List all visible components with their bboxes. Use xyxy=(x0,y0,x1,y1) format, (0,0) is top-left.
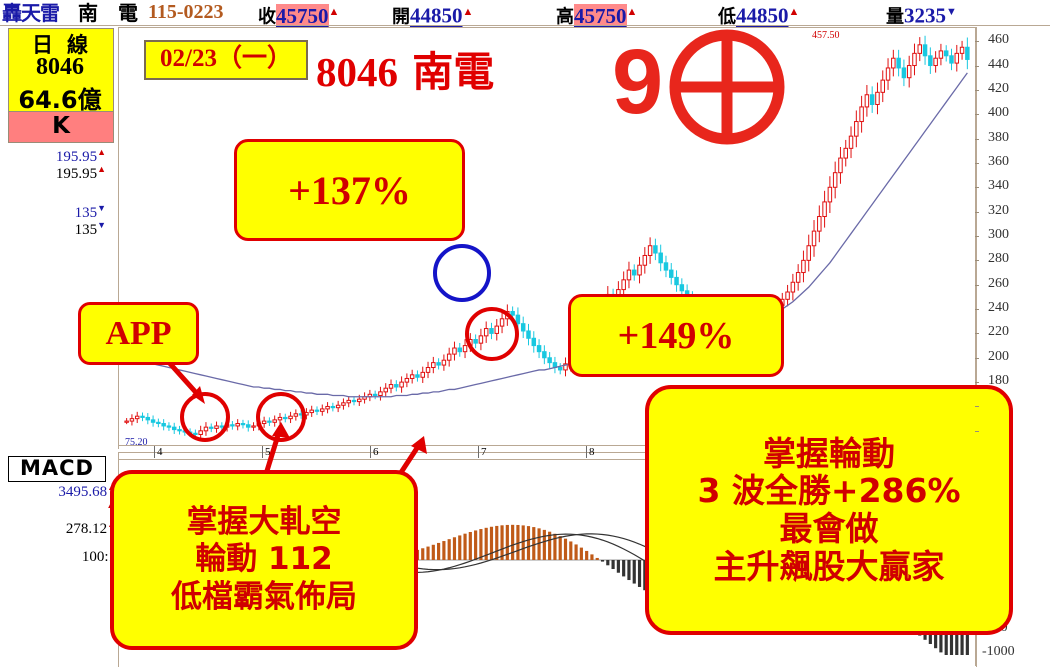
macd-tick--1000: -1000 xyxy=(982,644,1015,660)
stock-name-label: 南 電 xyxy=(78,1,138,25)
k-value-black: 195.95▲ xyxy=(0,164,106,183)
price-tick-mark-340 xyxy=(975,187,979,188)
price-tick-260: 260 xyxy=(988,276,1009,292)
high-point-annotation: 457.50 xyxy=(812,30,840,41)
chart-title-name: 南電 xyxy=(412,48,494,96)
price-tick-360: 360 xyxy=(988,154,1009,170)
price-tick-280: 280 xyxy=(988,251,1009,267)
open-up-arrow-icon: ▲ xyxy=(463,6,474,18)
price-tick-340: 340 xyxy=(988,178,1009,194)
price-tick-200: 200 xyxy=(988,349,1009,365)
toolbar-divider xyxy=(0,25,1050,26)
badge-gain-137: +137% xyxy=(234,139,465,241)
price-tick-380: 380 xyxy=(988,130,1009,146)
price-tick-mark-220 xyxy=(975,333,979,334)
price-tick-mark-460 xyxy=(975,41,979,42)
price-tick-440: 440 xyxy=(988,57,1009,73)
macd-value-blue: 3495.68▲ xyxy=(0,482,116,501)
callout-right: 掌握輪動 3 波全勝+286% 最會做 主升飆股大贏家 xyxy=(645,385,1013,635)
price-tick-mark-360 xyxy=(975,163,979,164)
callout-right-line-4: 主升飆股大贏家 xyxy=(714,548,945,586)
chart-title-code: 8046 xyxy=(316,49,398,95)
quote-toolbar: 轟天雷 南 電 115-0223 收45750▲ 開44850▲ 高45750▲… xyxy=(0,0,1050,26)
volume-down-arrow-icon: ▼ xyxy=(946,6,957,18)
price-tick-mark-440 xyxy=(975,66,979,67)
chart-title: 8046 南電 xyxy=(316,38,494,98)
x-tick-8: 8 xyxy=(586,446,595,458)
macd-value-black: 278.12▲ xyxy=(0,519,116,538)
price-tick-mark-380 xyxy=(975,139,979,140)
app-logo: 轟天雷 xyxy=(2,1,59,25)
x-tick-4: 4 xyxy=(154,446,163,458)
price-y-axis: 4604404204003803603403203002802602402202… xyxy=(978,27,1050,447)
price-tick-220: 220 xyxy=(988,324,1009,340)
price-tick-400: 400 xyxy=(988,105,1009,121)
macd-indicator-badge[interactable]: MACD xyxy=(8,456,106,482)
turnover-label: 64.6億 xyxy=(8,80,112,115)
low-point-annotation: 75.20 xyxy=(125,437,148,448)
badge-gain-149: +149% xyxy=(568,294,784,377)
price-tick-mark-180 xyxy=(975,382,979,383)
left-info-panel: 日線 8046 64.6億 K 195.95▲ 195.95▲ 135▼ 135… xyxy=(0,26,118,451)
price-tick-mark-140 xyxy=(975,431,979,432)
price-tick-mark-280 xyxy=(975,260,979,261)
price-tick-300: 300 xyxy=(988,227,1009,243)
macd-sup-marker-icon: ▲ xyxy=(0,500,116,511)
price-tick-320: 320 xyxy=(988,203,1009,219)
price-tick-420: 420 xyxy=(988,81,1009,97)
low-up-arrow-icon: ▲ xyxy=(789,6,800,18)
x-tick-6: 6 xyxy=(370,446,379,458)
callout-right-line-3: 最會做 xyxy=(780,510,879,548)
x-tick-7: 7 xyxy=(478,446,487,458)
callout-left-line-3: 低檔霸氣佈局 xyxy=(171,579,357,616)
price-tick-mark-420 xyxy=(975,90,979,91)
big-number-9: 9 xyxy=(612,36,663,128)
price-tick-mark-240 xyxy=(975,309,979,310)
price-tick-mark-260 xyxy=(975,285,979,286)
callout-left-line-2: 輪動 112 xyxy=(195,541,333,578)
badge-app: APP xyxy=(78,302,199,365)
callout-right-line-2: 3 波全勝+286% xyxy=(697,472,960,510)
macd-scale-label: 100:1 xyxy=(0,549,116,566)
callout-right-line-1: 掌握輪動 xyxy=(763,435,895,473)
x-tick-5: 5 xyxy=(262,446,271,458)
chart-screenshot: 轟天雷 南 電 115-0223 收45750▲ 開44850▲ 高45750▲… xyxy=(0,0,1050,672)
callout-left-line-1: 掌握大軋空 xyxy=(187,504,342,541)
stock-code-label: 8046 xyxy=(8,54,112,81)
price-tick-mark-320 xyxy=(975,212,979,213)
d-value-black: 135▼ xyxy=(0,220,106,239)
close-up-arrow-icon: ▲ xyxy=(329,6,340,18)
date-badge: 02/23（一） xyxy=(144,40,308,80)
price-tick-mark-400 xyxy=(975,114,979,115)
price-tick-460: 460 xyxy=(988,32,1009,48)
high-up-arrow-icon: ▲ xyxy=(627,6,638,18)
price-tick-mark-200 xyxy=(975,358,979,359)
callout-left: 掌握大軋空 輪動 112 低檔霸氣佈局 xyxy=(110,470,418,650)
price-tick-mark-300 xyxy=(975,236,979,237)
price-tick-mark-160 xyxy=(975,406,979,407)
date-code-label: 115-0223 xyxy=(148,0,224,24)
price-tick-240: 240 xyxy=(988,300,1009,316)
indicator-k-badge[interactable]: K xyxy=(8,111,114,143)
